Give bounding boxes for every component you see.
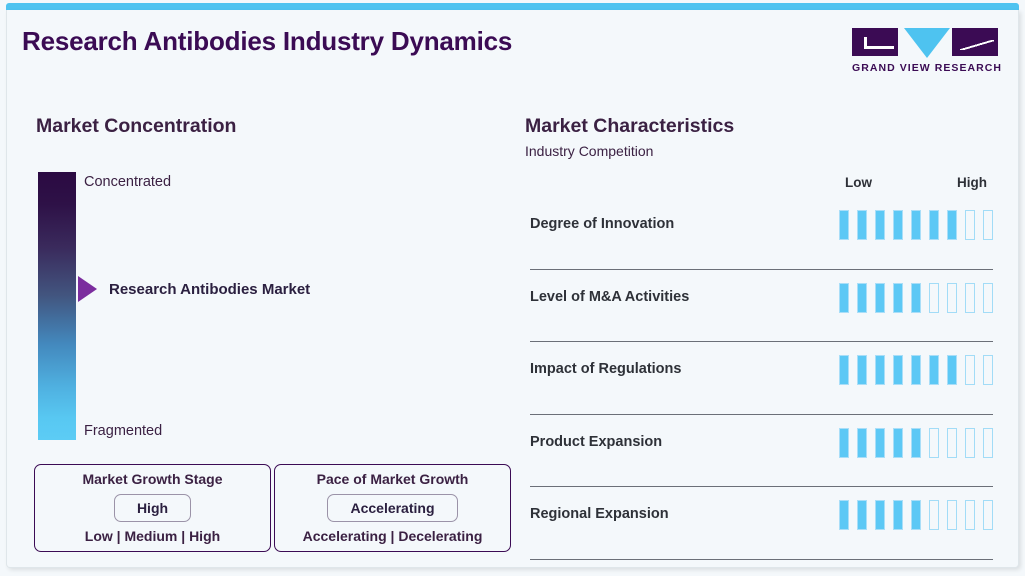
rating-segment-filled <box>929 210 939 240</box>
scale-header-low: Low <box>845 175 872 190</box>
market-growth-stage-value: High <box>114 494 191 522</box>
rating-segment-empty <box>983 283 993 313</box>
rating-segment-filled <box>839 355 849 385</box>
scale-label-fragmented: Fragmented <box>84 423 162 439</box>
concentration-marker: Research Antibodies Market <box>78 276 310 302</box>
characteristic-row: Regional Expansion <box>530 487 993 560</box>
rating-segment-filled <box>875 283 885 313</box>
logo-marks <box>852 28 998 58</box>
rating-segment-filled <box>857 355 867 385</box>
characteristic-rating-scale <box>839 428 993 458</box>
rating-segment-empty <box>965 355 975 385</box>
market-characteristics-subtitle: Industry Competition <box>525 143 653 159</box>
rating-segment-filled <box>893 355 903 385</box>
rating-segment-empty <box>983 210 993 240</box>
characteristic-label: Degree of Innovation <box>530 216 674 232</box>
characteristic-rating-scale <box>839 210 993 240</box>
rating-segment-filled <box>875 355 885 385</box>
pace-of-market-growth-box: Pace of Market Growth Accelerating Accel… <box>274 464 511 552</box>
characteristic-rating-scale <box>839 500 993 530</box>
rating-segment-empty <box>983 428 993 458</box>
rating-segment-filled <box>911 210 921 240</box>
rating-segment-filled <box>857 210 867 240</box>
rating-segment-filled <box>947 210 957 240</box>
logo-right-block-icon <box>952 28 998 56</box>
infographic-canvas: Research Antibodies Industry Dynamics GR… <box>0 0 1025 576</box>
market-growth-stage-heading: Market Growth Stage <box>82 471 222 487</box>
rating-segment-empty <box>965 428 975 458</box>
characteristic-label: Product Expansion <box>530 434 662 450</box>
rating-segment-filled <box>911 428 921 458</box>
pace-of-market-growth-heading: Pace of Market Growth <box>317 471 469 487</box>
scale-label-concentrated: Concentrated <box>84 174 171 190</box>
market-concentration-title: Market Concentration <box>36 115 236 138</box>
rating-segment-filled <box>839 210 849 240</box>
characteristic-row: Degree of Innovation <box>530 197 993 270</box>
rating-segment-filled <box>911 355 921 385</box>
concentration-marker-label: Research Antibodies Market <box>109 281 310 298</box>
rating-segment-filled <box>893 210 903 240</box>
logo-triangle-icon <box>904 28 950 58</box>
grand-view-research-logo: GRAND VIEW RESEARCH <box>852 28 998 76</box>
page-title: Research Antibodies Industry Dynamics <box>22 26 512 57</box>
triangle-pointer-icon <box>78 276 97 302</box>
rating-segment-filled <box>947 355 957 385</box>
pace-of-market-growth-value: Accelerating <box>327 494 457 522</box>
rating-segment-empty <box>965 210 975 240</box>
rating-segment-filled <box>839 428 849 458</box>
rating-segment-filled <box>893 500 903 530</box>
rating-segment-filled <box>875 210 885 240</box>
characteristic-rating-scale <box>839 355 993 385</box>
characteristics-rows: Degree of InnovationLevel of M&A Activit… <box>530 197 993 560</box>
rating-segment-empty <box>929 283 939 313</box>
top-accent-bar <box>6 3 1019 10</box>
rating-segment-filled <box>839 500 849 530</box>
concentration-gradient-scale <box>38 172 76 440</box>
market-growth-stage-box: Market Growth Stage High Low | Medium | … <box>34 464 271 552</box>
rating-segment-filled <box>857 428 867 458</box>
characteristic-row: Level of M&A Activities <box>530 270 993 343</box>
rating-segment-empty <box>965 283 975 313</box>
rating-segment-filled <box>911 500 921 530</box>
rating-segment-filled <box>875 428 885 458</box>
characteristic-label: Impact of Regulations <box>530 361 681 377</box>
scale-header-high: High <box>957 175 987 190</box>
rating-segment-filled <box>893 283 903 313</box>
rating-segment-filled <box>893 428 903 458</box>
logo-left-block-icon <box>852 28 898 56</box>
rating-segment-filled <box>857 283 867 313</box>
rating-segment-empty <box>983 500 993 530</box>
pace-of-market-growth-options: Accelerating | Decelerating <box>303 528 483 544</box>
rating-segment-filled <box>875 500 885 530</box>
characteristic-label: Regional Expansion <box>530 506 669 522</box>
rating-segment-empty <box>947 428 957 458</box>
rating-segment-empty <box>947 500 957 530</box>
characteristic-rating-scale <box>839 283 993 313</box>
characteristic-label: Level of M&A Activities <box>530 289 689 305</box>
rating-segment-empty <box>983 355 993 385</box>
characteristic-row: Product Expansion <box>530 415 993 488</box>
rating-segment-empty <box>929 428 939 458</box>
rating-segment-empty <box>947 283 957 313</box>
market-characteristics-title: Market Characteristics <box>525 115 734 138</box>
market-growth-stage-options: Low | Medium | High <box>85 528 220 544</box>
rating-segment-filled <box>839 283 849 313</box>
rating-segment-empty <box>929 500 939 530</box>
characteristic-row: Impact of Regulations <box>530 342 993 415</box>
rating-segment-filled <box>911 283 921 313</box>
rating-segment-filled <box>929 355 939 385</box>
logo-wordmark: GRAND VIEW RESEARCH <box>852 62 998 74</box>
rating-segment-filled <box>857 500 867 530</box>
rating-segment-empty <box>965 500 975 530</box>
